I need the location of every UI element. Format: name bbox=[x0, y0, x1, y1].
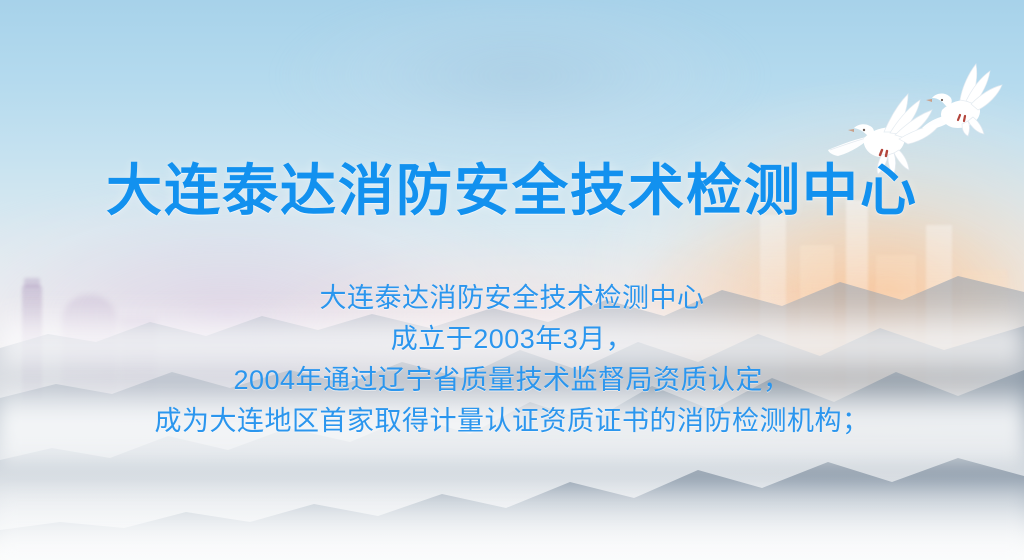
description-block: 大连泰达消防安全技术检测中心 成立于2003年3月， 2004年通过辽宁省质量技… bbox=[0, 278, 1024, 442]
description-line-4: 成为大连地区首家取得计量认证资质证书的消防检测机构； bbox=[0, 401, 1024, 442]
description-line-3: 2004年通过辽宁省质量技术监督局资质认定， bbox=[0, 360, 1024, 401]
page-title: 大连泰达消防安全技术检测中心 bbox=[0, 160, 1024, 223]
description-line-1: 大连泰达消防安全技术检测中心 bbox=[0, 278, 1024, 319]
description-line-2: 成立于2003年3月， bbox=[0, 319, 1024, 360]
promo-banner: 大连泰达消防安全技术检测中心 大连泰达消防安全技术检测中心 成立于2003年3月… bbox=[0, 0, 1024, 560]
dove-icon bbox=[916, 58, 1016, 136]
